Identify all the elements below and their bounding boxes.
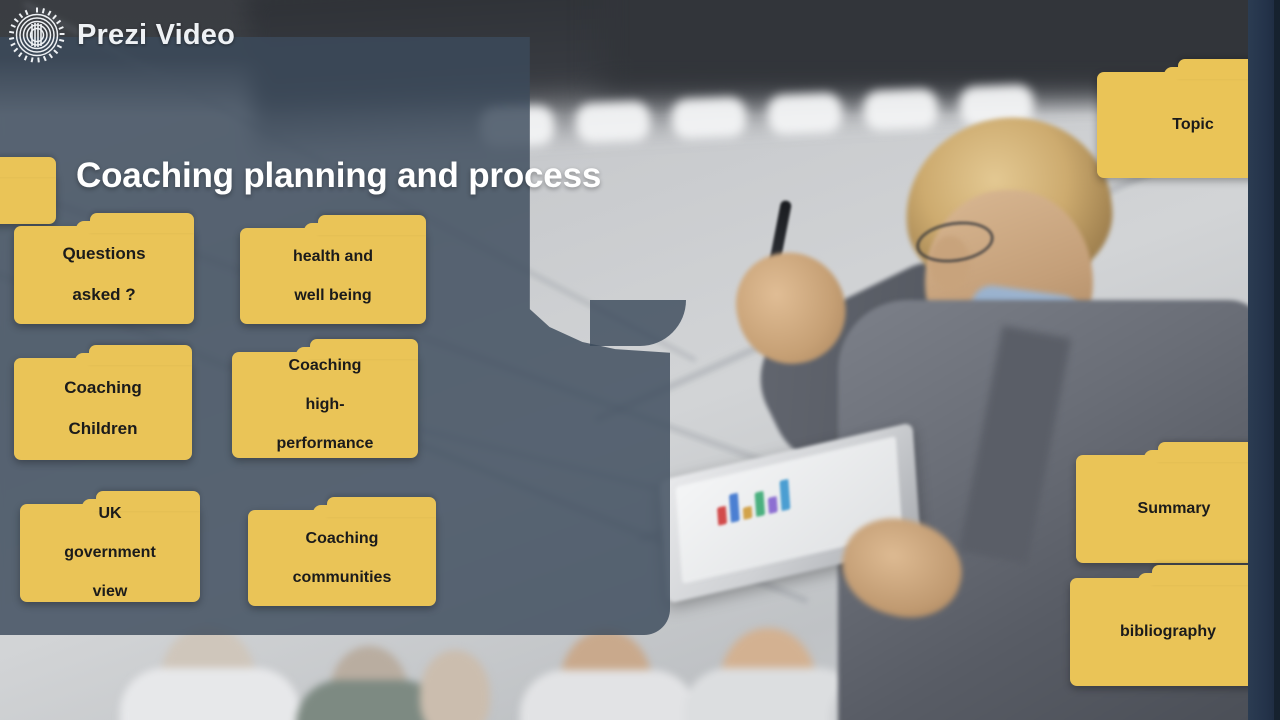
folder-label-line2: well being	[293, 286, 373, 306]
folder-label-line2: high-	[277, 395, 374, 415]
folder-label-line3: view	[64, 582, 156, 602]
folder-label-line2: communities	[293, 568, 392, 588]
folder-card-health-and-well-being[interactable]: health and well being	[240, 228, 426, 324]
folder-label-line2: asked ?	[62, 285, 145, 306]
folder-card-summary[interactable]: Summary	[1076, 455, 1272, 563]
folder-label-line1: Coaching	[293, 529, 392, 549]
folder-card-questions-asked[interactable]: Questions asked ?	[14, 226, 194, 324]
brand-name: Prezi Video	[77, 19, 235, 52]
folder-label: Topic	[1172, 115, 1213, 135]
folder-card-uk-government-view[interactable]: UK government view	[20, 504, 200, 602]
folder-card-bibliography[interactable]: bibliography	[1070, 578, 1266, 686]
folder-card-coaching-high-performance[interactable]: Coaching high- performance	[232, 352, 418, 458]
folder-label-line1: Coaching	[64, 378, 141, 399]
folder-label-line1: health and	[293, 247, 373, 267]
folder-label-line1: Questions	[62, 244, 145, 265]
folder-card-coaching-children[interactable]: Coaching Children	[14, 358, 192, 460]
folder-label-line2: Children	[64, 419, 141, 440]
slide-canvas: Prezi Video Coaching planning and proces…	[0, 0, 1280, 720]
folder-card-coaching-communities[interactable]: Coaching communities	[248, 510, 436, 606]
prezi-video-logo: Prezi Video	[8, 6, 235, 64]
folder-card-decorative[interactable]	[0, 170, 56, 224]
folder-label: Summary	[1138, 499, 1211, 519]
folder-label-line1: UK	[64, 504, 156, 524]
prezi-sunburst-icon	[8, 6, 66, 64]
folder-label-line3: performance	[277, 434, 374, 454]
right-edge-strip-inner	[1274, 0, 1280, 720]
folder-label-line2: government	[64, 543, 156, 563]
folder-label-line1: Coaching	[277, 356, 374, 376]
folder-label: bibliography	[1120, 622, 1216, 642]
slide-title: Coaching planning and process	[76, 156, 636, 196]
